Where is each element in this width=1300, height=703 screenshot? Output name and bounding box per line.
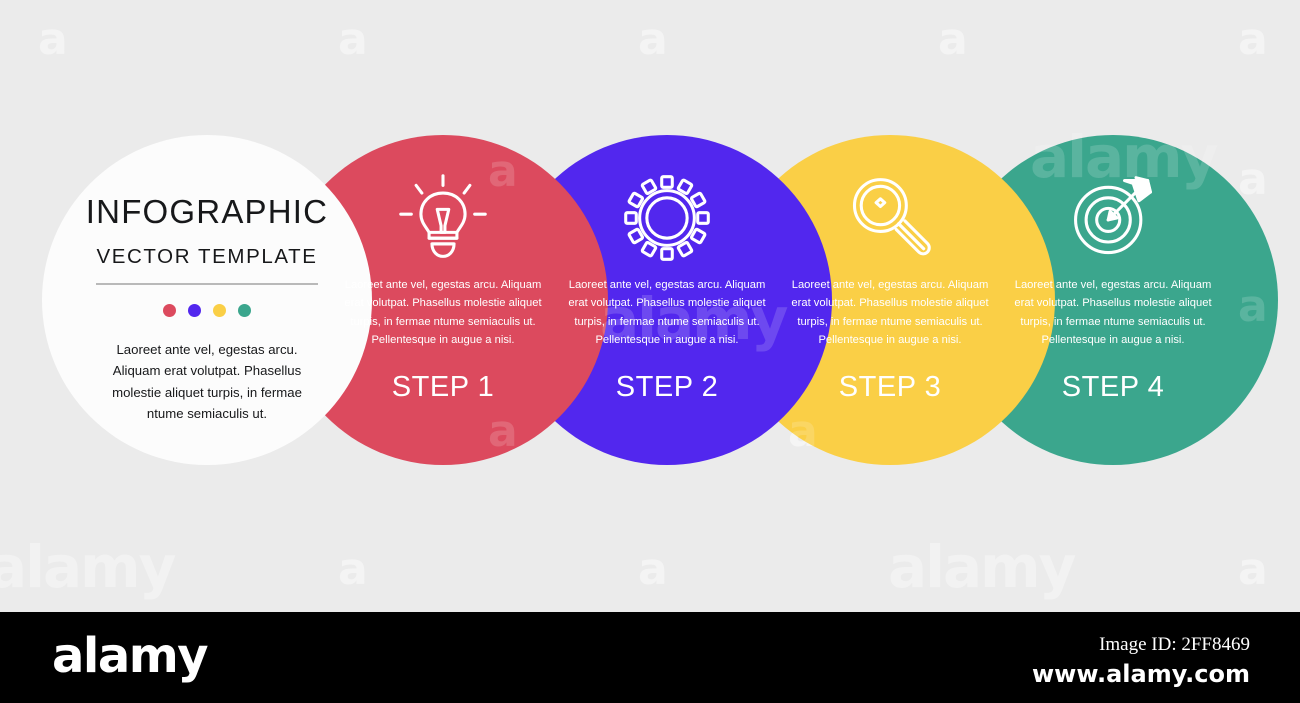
step-body-text: Laoreet ante vel, egestas arcu. Aliquam … (1013, 276, 1213, 349)
step-label: STEP 3 (839, 371, 941, 404)
footer-bar: alamy Image ID: 2FF8469 www.alamy.com (0, 612, 1300, 703)
step-body-text: Laoreet ante vel, egestas arcu. Aliquam … (343, 276, 543, 349)
color-dot-3 (213, 304, 226, 317)
image-id-label: Image ID: 2FF8469 (950, 634, 1250, 656)
step-body-text: Laoreet ante vel, egestas arcu. Aliquam … (790, 276, 990, 349)
alamy-logo: alamy (52, 632, 207, 680)
title-body-text: Laoreet ante vel, egestas arcu. Aliquam … (95, 339, 320, 425)
color-dot-group (163, 304, 251, 317)
color-dot-4 (238, 304, 251, 317)
title-card: INFOGRAPHIC VECTOR TEMPLATE Laoreet ante… (42, 135, 372, 465)
step-label: STEP 1 (392, 371, 494, 404)
page-subtitle: VECTOR TEMPLATE (96, 245, 317, 269)
step-label: STEP 4 (1062, 371, 1164, 404)
magnifier-icon (842, 170, 938, 266)
page-title: INFOGRAPHIC (86, 193, 328, 231)
color-dot-1 (163, 304, 176, 317)
step-body-text: Laoreet ante vel, egestas arcu. Aliquam … (567, 276, 767, 349)
lightbulb-icon (395, 170, 491, 266)
step-label: STEP 2 (616, 371, 718, 404)
alamy-url-label[interactable]: www.alamy.com (950, 660, 1250, 688)
infographic-canvas: a a a a a a a a a a alamy alamy a a a a … (0, 0, 1300, 703)
target-dart-icon (1065, 170, 1161, 266)
color-dot-2 (188, 304, 201, 317)
title-divider (96, 283, 318, 285)
gear-icon (619, 170, 715, 266)
